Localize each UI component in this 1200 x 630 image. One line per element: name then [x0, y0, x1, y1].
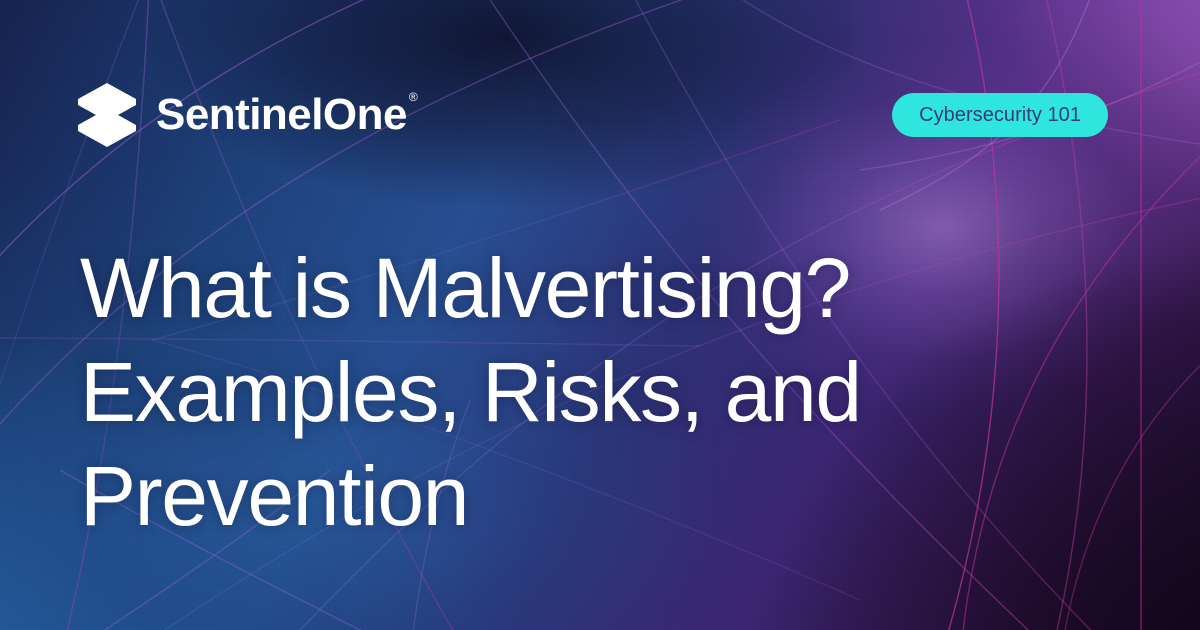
title-line-1: What is Malvertising?: [80, 236, 1110, 340]
category-badge-cybersecurity-101[interactable]: Cybersecurity 101: [892, 93, 1108, 137]
title-line-3: Prevention: [80, 444, 1110, 548]
page-title: What is Malvertising? Examples, Risks, a…: [80, 236, 1110, 548]
registered-trademark-icon: ®: [409, 90, 417, 104]
title-line-2: Examples, Risks, and: [80, 340, 1110, 444]
brand-wordmark-text: SentinelOne: [156, 90, 407, 139]
hero-card: SentinelOne® Cybersecurity 101 What is M…: [0, 0, 1200, 630]
header: SentinelOne® Cybersecurity 101: [78, 84, 1108, 146]
sentinelone-hexagon-s-icon: [78, 83, 136, 147]
brand-wordmark: SentinelOne®: [156, 93, 417, 137]
brand-lockup[interactable]: SentinelOne®: [78, 83, 417, 147]
